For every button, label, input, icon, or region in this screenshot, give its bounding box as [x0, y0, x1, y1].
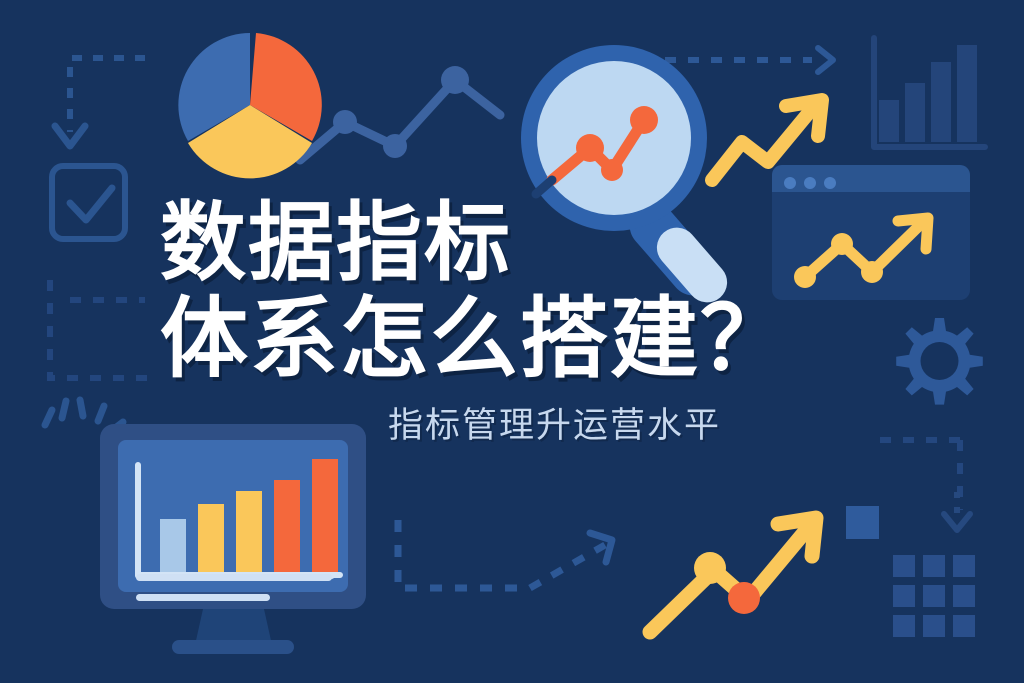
- monitor: [100, 424, 366, 654]
- poster-title-line-1: 数据指标: [160, 196, 860, 291]
- bottom-arrow-chart: [650, 518, 816, 632]
- arrow-down-icon: [944, 492, 970, 530]
- background-line-chart: [300, 66, 500, 160]
- poster-canvas: 数据指标 体系怎么搭建？ 指标管理升运营水平: [0, 0, 1024, 683]
- dashed-arrow-down-icon: [55, 58, 145, 146]
- dot-grid: [893, 555, 975, 637]
- corner-bar-chart: [874, 38, 985, 147]
- poster-subtitle: 指标管理升运营水平: [388, 404, 860, 448]
- poster-title-line-2: 体系怎么搭建？: [160, 291, 860, 386]
- square-marker: [846, 506, 879, 539]
- dashed-bracket: [50, 280, 152, 378]
- browser-dots: [784, 177, 836, 189]
- pie-chart: [178, 33, 321, 178]
- gear-icon: [896, 318, 983, 405]
- dashed-arrow-right-icon: [665, 48, 833, 72]
- dashed-frame: [880, 440, 960, 510]
- checkbox-checked-icon: [52, 166, 125, 239]
- title-block: 数据指标 体系怎么搭建？ 指标管理升运营水平: [160, 196, 860, 448]
- dashed-arrow-up-right-icon: [398, 520, 612, 588]
